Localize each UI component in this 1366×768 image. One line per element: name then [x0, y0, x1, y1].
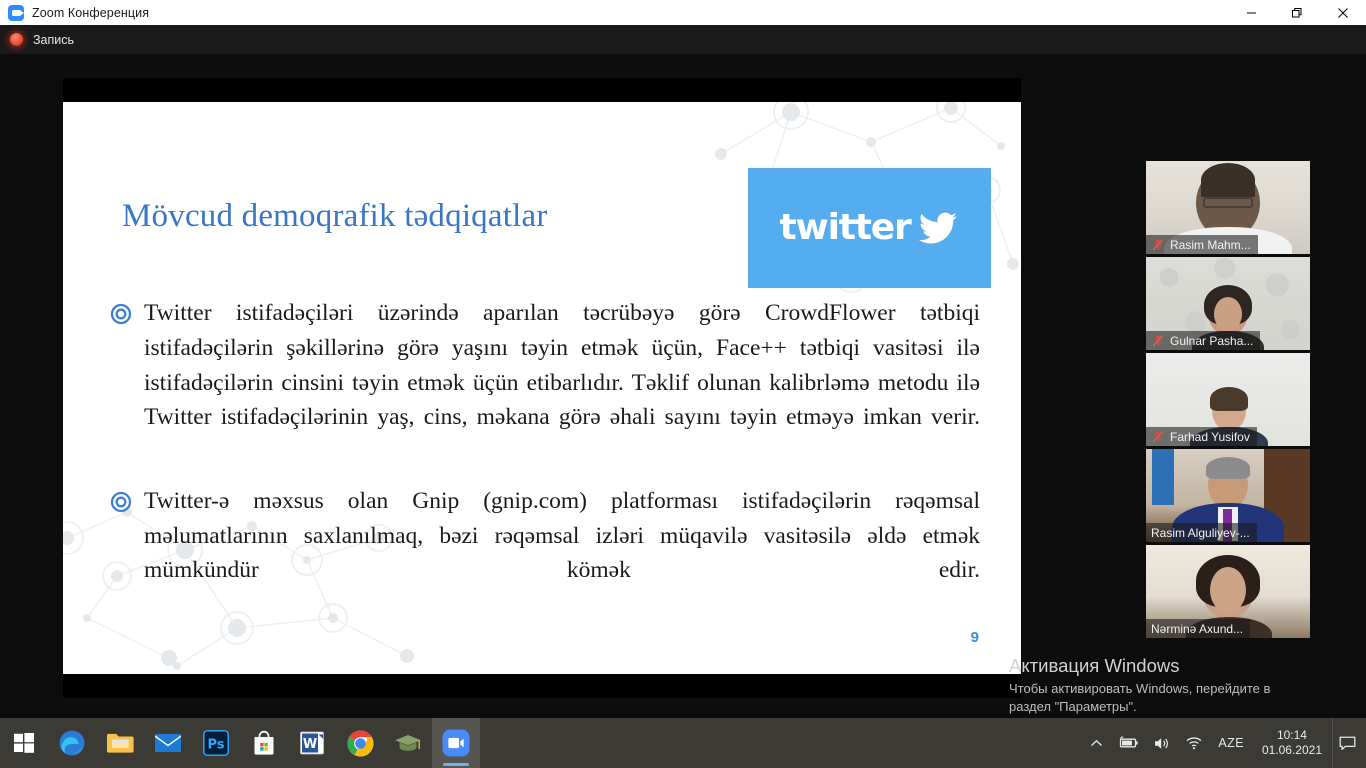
- zoom-camera-icon: [442, 729, 470, 757]
- twitter-bird-icon: [916, 209, 960, 247]
- zoom-camera-icon: [8, 5, 24, 21]
- participant-tile-active-speaker[interactable]: Nərminə Axund...: [1146, 545, 1310, 638]
- photoshop-icon: Ps: [203, 730, 229, 756]
- edge-icon: [58, 729, 86, 757]
- battery-charging-icon: [1117, 736, 1139, 750]
- slide-page-number: 9: [971, 629, 979, 646]
- file-explorer-button[interactable]: [96, 718, 144, 768]
- edge-button[interactable]: [48, 718, 96, 768]
- network-button[interactable]: [1178, 736, 1210, 750]
- participant-tile[interactable]: Rasim Alguliyev-...: [1146, 449, 1310, 542]
- slide-title: Mövcud demoqrafik tədqiqatlar: [122, 198, 548, 235]
- microphone-muted-icon: [1151, 430, 1165, 444]
- bullet-text: Twitter-ə məxsus olan Gnip (gnip.com) pl…: [144, 484, 980, 623]
- notification-bubble-icon: [1339, 736, 1356, 751]
- watermark-line-1: Чтобы активировать Windows, перейдите в: [1009, 680, 1339, 698]
- participant-name: Rasim Mahm...: [1170, 238, 1251, 252]
- watermark-line-2: раздел "Параметры".: [1009, 698, 1339, 716]
- windows-logo-icon: [14, 733, 34, 753]
- zoom-meeting-window: Запись: [0, 25, 1366, 718]
- close-button[interactable]: [1320, 0, 1366, 25]
- shared-screen-area[interactable]: Mövcud demoqrafik tədqiqatlar twitter: [63, 78, 1021, 698]
- participant-name-bar: Nərminə Axund...: [1146, 619, 1250, 638]
- participant-name-bar: Rasim Mahm...: [1146, 235, 1258, 254]
- participant-filmstrip: Rasim Mahm...: [1146, 161, 1310, 641]
- list-item: Twitter istifadəçiləri üzərində aparılan…: [110, 296, 980, 470]
- word-button[interactable]: W: [288, 718, 336, 768]
- twitter-wordmark: twitter: [780, 210, 911, 246]
- wifi-icon: [1185, 736, 1203, 750]
- watermark-title: Активация Windows: [1009, 655, 1339, 677]
- system-tray: AZE 10:14 01.06.2021: [1083, 718, 1366, 768]
- participant-name: Nərminə Axund...: [1151, 622, 1243, 636]
- word-icon: W: [299, 730, 325, 756]
- svg-text:W: W: [303, 737, 317, 752]
- minimize-button[interactable]: [1228, 0, 1274, 25]
- microphone-muted-icon: [1151, 238, 1165, 252]
- graduation-cap-icon: [394, 732, 422, 754]
- microsoft-store-button[interactable]: [240, 718, 288, 768]
- participant-name-bar: Farhad Yusifov: [1146, 427, 1257, 446]
- double-circle-bullet-icon: [110, 296, 144, 470]
- recording-bar: Запись: [0, 25, 1366, 54]
- clock-date: 01.06.2021: [1262, 743, 1322, 758]
- participant-tile[interactable]: Farhad Yusifov: [1146, 353, 1310, 446]
- chevron-up-icon: [1090, 739, 1103, 748]
- chrome-button[interactable]: [336, 718, 384, 768]
- volume-button[interactable]: [1146, 736, 1178, 751]
- svg-text:Ps: Ps: [207, 738, 224, 753]
- participant-name-bar: Gulnar Pasha...: [1146, 331, 1260, 350]
- twitter-logo: twitter: [748, 168, 991, 288]
- windows-activation-watermark: Активация Windows Чтобы активировать Win…: [1009, 655, 1339, 717]
- start-button[interactable]: [0, 718, 48, 768]
- participant-tile[interactable]: Gulnar Pasha...: [1146, 257, 1310, 350]
- windows-taskbar: Ps W: [0, 718, 1366, 768]
- store-bag-icon: [251, 730, 277, 756]
- participant-name: Rasim Alguliyev-...: [1151, 526, 1250, 540]
- zoom-button[interactable]: [432, 718, 480, 768]
- bullet-text: Twitter istifadəçiləri üzərində aparılan…: [144, 296, 980, 470]
- window-title-bar: Zoom Конференция: [0, 0, 1366, 25]
- window-controls: [1228, 0, 1366, 25]
- graduation-app-button[interactable]: [384, 718, 432, 768]
- microphone-muted-icon: [1151, 334, 1165, 348]
- speaker-icon: [1153, 736, 1171, 751]
- notifications-button[interactable]: [1332, 718, 1362, 768]
- clock[interactable]: 10:14 01.06.2021: [1252, 728, 1332, 759]
- language-indicator[interactable]: AZE: [1210, 736, 1252, 750]
- participant-name: Farhad Yusifov: [1170, 430, 1250, 444]
- participant-tile[interactable]: Rasim Mahm...: [1146, 161, 1310, 254]
- recording-indicator-icon: [10, 33, 23, 46]
- double-circle-bullet-icon: [110, 484, 144, 623]
- mail-button[interactable]: [144, 718, 192, 768]
- restore-button[interactable]: [1274, 0, 1320, 25]
- clock-time: 10:14: [1262, 728, 1322, 743]
- list-item: Twitter-ə məxsus olan Gnip (gnip.com) pl…: [110, 484, 980, 623]
- chrome-icon: [347, 730, 374, 757]
- folder-icon: [106, 731, 134, 755]
- screen: Zoom Конференция Запись: [0, 0, 1366, 768]
- recording-label: Запись: [33, 33, 74, 47]
- slide-bullet-list: Twitter istifadəçiləri üzərində aparılan…: [110, 296, 980, 637]
- presentation-slide: Mövcud demoqrafik tədqiqatlar twitter: [63, 102, 1021, 674]
- window-title: Zoom Конференция: [32, 6, 149, 20]
- battery-button[interactable]: [1110, 736, 1146, 750]
- participant-name-bar: Rasim Alguliyev-...: [1146, 523, 1257, 542]
- show-hidden-icons-button[interactable]: [1083, 739, 1110, 748]
- envelope-icon: [154, 732, 182, 754]
- participant-name: Gulnar Pasha...: [1170, 334, 1253, 348]
- running-indicator: [443, 763, 469, 766]
- photoshop-button[interactable]: Ps: [192, 718, 240, 768]
